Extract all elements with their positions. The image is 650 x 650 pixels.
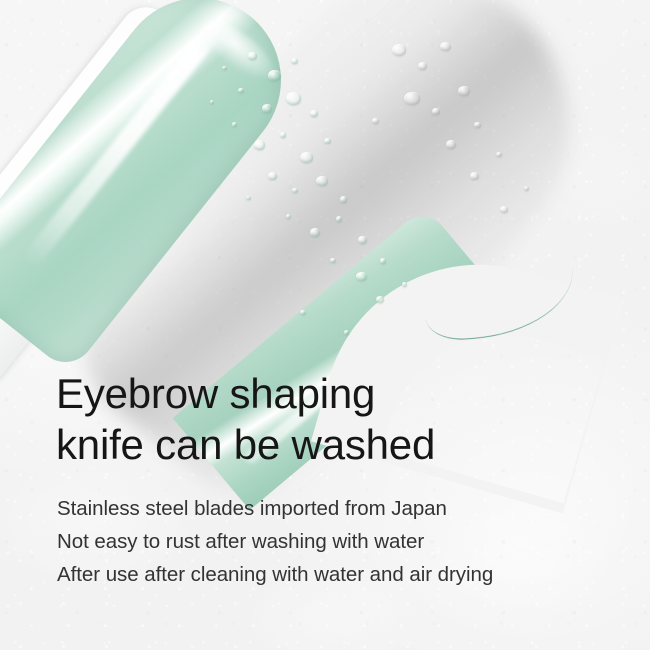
product-banner: Eyebrow shaping knife can be washed Stai… (0, 0, 650, 650)
copy-block: Eyebrow shaping knife can be washed Stai… (56, 368, 616, 591)
page-title: Eyebrow shaping knife can be washed (56, 368, 616, 470)
feature-list-item: Not easy to rust after washing with wate… (57, 525, 616, 558)
feature-list-item: After use after cleaning with water and … (57, 558, 616, 591)
feature-list-item: Stainless steel blades imported from Jap… (57, 492, 616, 525)
feature-list: Stainless steel blades imported from Jap… (57, 492, 616, 591)
